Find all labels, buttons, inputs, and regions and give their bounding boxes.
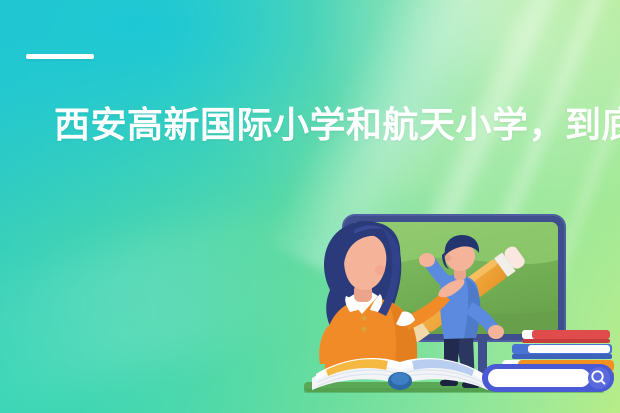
book-spine-inner [391,373,409,385]
page-title: 西安高新国际小学和航天小学，到底 [54,103,620,149]
search-icon[interactable] [588,367,610,389]
book-red [522,330,610,343]
teacher-cheek [375,265,385,275]
student-shoe-front [440,380,458,386]
search-input[interactable] [488,369,590,387]
student-ear [445,255,451,261]
book-blue [512,344,612,359]
teacher-button-2 [361,326,366,331]
decorative-rule [26,54,94,59]
banner-card: 西安高新国际小学和航天小学，到底 [0,0,620,413]
search-bar[interactable] [482,364,614,392]
teacher-button-1 [361,315,366,320]
teacher-student-blackboard-illustration [296,198,620,413]
student-hand-upper [419,253,435,267]
student-hand-lower [488,325,504,339]
